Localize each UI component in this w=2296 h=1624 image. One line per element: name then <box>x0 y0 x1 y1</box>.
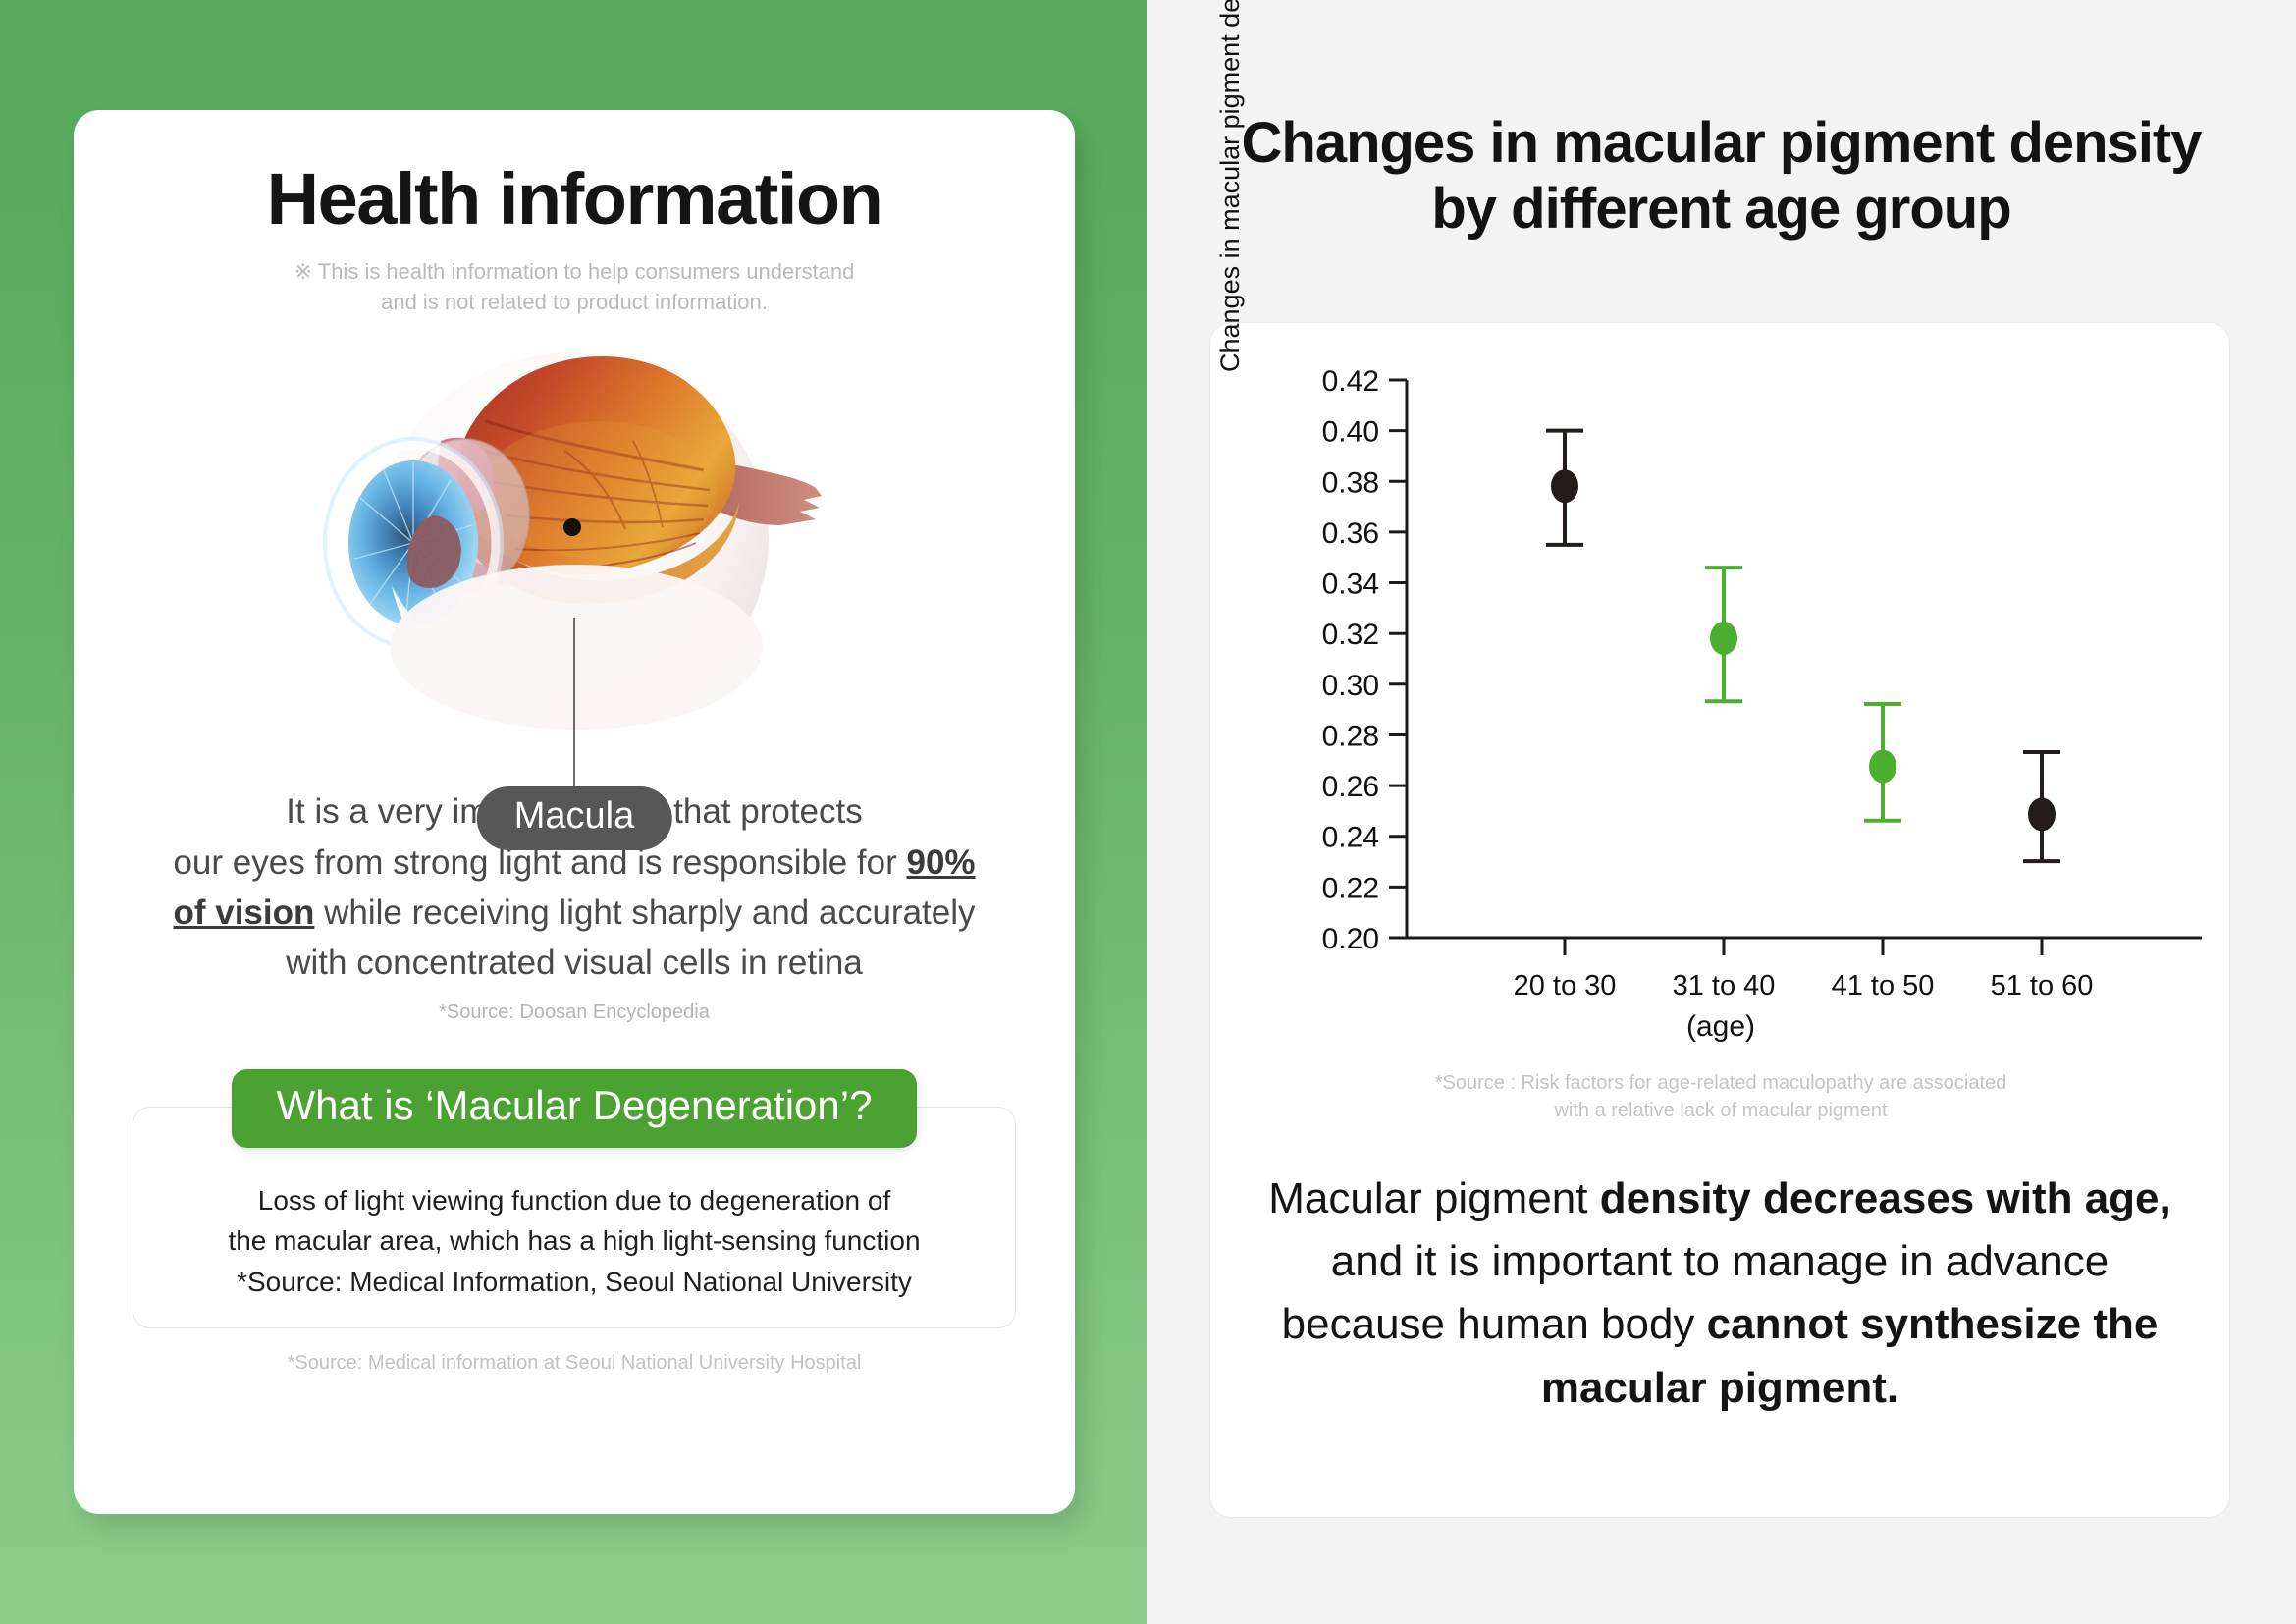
macula-label: Macula <box>477 786 672 850</box>
marker-51-to-60 <box>2028 797 2056 831</box>
marker-41-to-50 <box>1869 750 1896 784</box>
chart-title-line-1: Changes in macular pigment density <box>1242 111 2202 175</box>
svg-text:20 to 30: 20 to 30 <box>1514 970 1617 1001</box>
x-axis-tick-labels: 20 to 30 31 to 40 41 to 50 51 to 60 <box>1514 970 2094 1001</box>
svg-text:0.32: 0.32 <box>1322 619 1379 651</box>
x-axis-label: (age) <box>1210 1010 2231 1044</box>
svg-text:0.20: 0.20 <box>1322 923 1379 955</box>
y-axis-label: Changes in macular pigment density accor… <box>1214 0 1246 372</box>
chart-title-line-2: by different age group <box>1431 177 2010 241</box>
page-subtitle: ※ This is health information to help con… <box>74 256 1075 317</box>
conclusion-bold-1: density decreases with age, <box>1600 1174 2171 1222</box>
svg-text:41 to 50: 41 to 50 <box>1832 970 1935 1001</box>
marker-31-to-40 <box>1710 622 1737 655</box>
conclusion-part-a: Macular pigment <box>1268 1174 1599 1222</box>
svg-text:51 to 60: 51 to 60 <box>1991 970 2094 1001</box>
chart-panel-title: Changes in macular pigment density by di… <box>1147 110 2296 243</box>
desc-line-3: while receiving light sharply and accura… <box>314 893 975 932</box>
desc-highlight-2: of vision <box>173 893 314 932</box>
svg-text:0.22: 0.22 <box>1322 872 1379 904</box>
chart-source-line-1: *Source : Risk factors for age-related m… <box>1435 1072 2007 1094</box>
y-axis-tick-labels: 0.42 0.40 0.38 0.36 0.34 0.32 0.30 0.28 … <box>1322 365 1379 955</box>
eye-illustration-wrap: Macula <box>74 323 1075 745</box>
page-title: Health information <box>74 157 1075 241</box>
subtitle-line-1: ※ This is health information to help con… <box>294 259 855 284</box>
svg-text:0.36: 0.36 <box>1322 517 1379 550</box>
svg-text:0.40: 0.40 <box>1322 416 1379 449</box>
svg-text:0.24: 0.24 <box>1322 822 1379 854</box>
scatter-plot-svg: 0.42 0.40 0.38 0.36 0.34 0.32 0.30 0.28 … <box>1210 323 2231 1010</box>
chart-card: Changes in macular pigment density accor… <box>1209 322 2230 1518</box>
degeneration-line-1: Loss of light viewing function due to de… <box>258 1185 890 1216</box>
infographic-page: Health information ※ This is health info… <box>0 0 2296 1624</box>
desc-line-4: with concentrated visual cells in retina <box>286 944 863 982</box>
plot-area: Changes in macular pigment density accor… <box>1210 323 2231 1128</box>
chart-source-note: *Source : Risk factors for age-related m… <box>1210 1069 2231 1125</box>
health-info-card: Health information ※ This is health info… <box>74 110 1075 1514</box>
source-doosan: *Source: Doosan Encyclopedia <box>74 1001 1075 1024</box>
chart-source-line-2: with a relative lack of macular pigment <box>1554 1100 1887 1121</box>
left-green-panel: Health information ※ This is health info… <box>0 0 1147 1624</box>
degeneration-line-3: *Source: Medical Information, Seoul Nati… <box>237 1267 912 1297</box>
svg-text:0.30: 0.30 <box>1322 670 1379 702</box>
right-chart-panel: Changes in macular pigment density by di… <box>1147 0 2296 1624</box>
degeneration-banner: What is ‘Macular Degeneration’? <box>232 1069 918 1148</box>
macula-leader-line <box>573 618 575 790</box>
svg-text:0.38: 0.38 <box>1322 466 1379 499</box>
svg-text:0.34: 0.34 <box>1322 568 1379 601</box>
conclusion-text: Macular pigment density decreases with a… <box>1250 1167 2190 1420</box>
svg-text:0.28: 0.28 <box>1322 721 1379 753</box>
svg-text:31 to 40: 31 to 40 <box>1673 970 1776 1001</box>
macula-dot <box>563 518 581 536</box>
macular-degeneration-block: What is ‘Macular Degeneration’? Loss of … <box>74 1069 1075 1328</box>
desc-highlight-1: 90% <box>906 843 975 882</box>
subtitle-line-2: and is not related to product informatio… <box>381 290 768 314</box>
y-axis-label-line-1: Changes in macular pigment density accor… <box>1215 0 1245 372</box>
svg-text:0.42: 0.42 <box>1322 365 1379 398</box>
marker-20-to-30 <box>1551 469 1578 503</box>
footer-source: *Source: Medical information at Seoul Na… <box>74 1352 1075 1375</box>
svg-text:0.26: 0.26 <box>1322 771 1379 803</box>
degeneration-line-2: the macular area, which has a high light… <box>228 1225 920 1256</box>
